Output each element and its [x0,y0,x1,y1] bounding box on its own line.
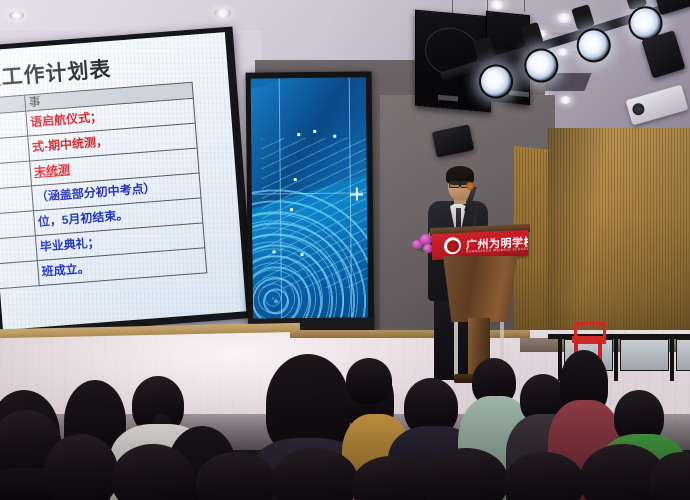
audience-member-front [44,434,118,500]
auditorium-photo: 级工作计划表 事 语启航仪式； 式-期中统测， [0,0,690,500]
microphone-head-icon [466,182,474,190]
led-node-dot [300,253,303,256]
audience-member [346,358,392,404]
downlight-icon [488,0,506,10]
school-crest-inner [447,239,459,252]
led-node-dot [290,208,293,211]
led-node-dot [333,135,336,138]
projection-screen: 级工作计划表 事 语启航仪式； 式-期中统测， [0,27,255,338]
led-node-dot [272,250,275,253]
audience [0,352,690,500]
screen-glare [0,32,246,330]
led-node-dot [294,178,297,181]
projector-lens-icon [631,102,646,117]
crosshair-icon [350,187,363,200]
projection-screen-surface: 级工作计划表 事 语启航仪式； 式-期中统测， [0,32,246,330]
speaker-wire [452,0,453,14]
led-panel-screen [251,77,369,318]
school-crest-icon [444,237,461,255]
vertical-led-panel [246,71,375,340]
moving-head-light [641,30,685,78]
podium-banner: 广州为明学校 GUANGZHOU WEIMING SCHOOL [432,230,528,260]
wood-panel-shading [548,128,690,340]
podium-front-panel [438,256,522,322]
downlight-icon [9,11,24,20]
led-node-dot [313,130,316,133]
led-node-dot [297,133,300,136]
downlight-icon [214,8,231,18]
